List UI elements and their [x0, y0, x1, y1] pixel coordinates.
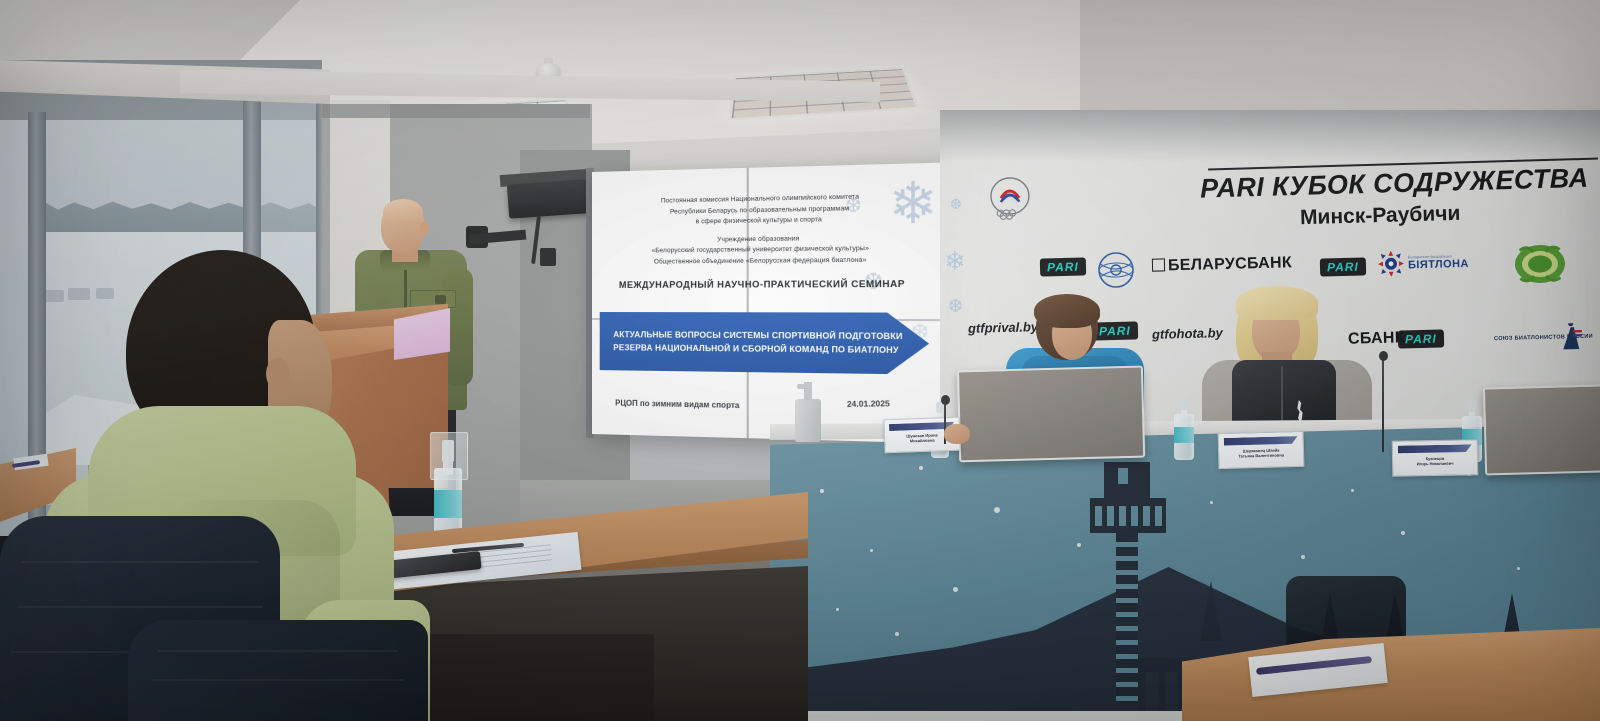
slide-date: 24.01.2025 [847, 399, 890, 409]
microphone [1378, 356, 1386, 452]
nameplate-center: Шеряковец Швейк Татьяна Валентиновна [1218, 431, 1305, 469]
laptop-right[interactable] [1483, 384, 1600, 471]
nameplate-bar [1398, 444, 1472, 453]
mural-star [1301, 555, 1305, 559]
snowflake-icon: ❄ [944, 246, 966, 277]
nameplate-line2: Игорь Николаевич [1400, 460, 1471, 466]
mural-star [953, 587, 958, 592]
belarusbank-logo: БЕЛАРУСБАНК [1152, 254, 1292, 275]
mural-star [870, 549, 873, 552]
backdrop-shadow [940, 110, 1600, 162]
belarusbank-mark-icon [1152, 258, 1165, 271]
russian-olympic-committee-logo [988, 175, 1031, 220]
panelist-blonde-hair-top [1236, 286, 1318, 320]
panelist-with-laptop-hair [1034, 294, 1100, 328]
green-emblem-logo [1511, 241, 1568, 286]
tower-railing [1090, 506, 1166, 528]
microphone-head-icon [941, 395, 950, 405]
puffer-jacket-sleeve [128, 620, 428, 721]
bottle-neck [443, 459, 453, 474]
tower-deck [1090, 498, 1166, 506]
mural-star [1401, 531, 1405, 535]
nameplate-text: Кузнецов Игорь Николаевич [1400, 455, 1471, 466]
sanitizer-nozzle [797, 384, 812, 389]
biathlon-federation-emblem-logo [1096, 250, 1137, 291]
russian-biathlon-union-logo: СОЮЗ БИАТЛОНИСТОВ РОССИИ [1494, 323, 1584, 353]
projection-screen: ❄ ❆ ❆ ❆ Постоянная комиссия Национальног… [592, 162, 956, 444]
bottle-cap [1468, 400, 1477, 412]
slide-title-text: АКТУАЛЬНЫЕ ВОПРОСЫ СИСТЕМЫ СПОРТИВНОЙ ПО… [600, 328, 903, 357]
quilt-seam [17, 606, 263, 608]
bottle-neck [1469, 411, 1476, 420]
mural-star [895, 632, 899, 636]
quilt-seam [152, 679, 404, 681]
belarusbank-logo-2: СБАНК [1348, 329, 1405, 348]
hand-sanitizer-bottle [795, 382, 821, 442]
pari-logo: PARI [1040, 257, 1086, 276]
mural-ski-tower [1070, 462, 1190, 712]
nameplate-line2: Татьяна Валентиновна [1226, 452, 1297, 459]
sanitizer-body [795, 399, 821, 442]
photo-scene: ❄ ❆ ❆ ❆ Постоянная комиссия Национальног… [0, 0, 1600, 721]
speaker-ear [420, 222, 429, 235]
microphone-head-icon [1379, 351, 1388, 361]
gtfohota-logo: gtfohota.by [1152, 325, 1223, 342]
jacket-pocket-flap [435, 295, 446, 304]
biathlete-silhouette-icon [1559, 323, 1584, 352]
pari-logo: PARI [1092, 321, 1138, 340]
biathlon-target-icon [1378, 250, 1405, 277]
quilt-seam [22, 561, 257, 563]
mural-tree [1200, 581, 1222, 641]
mural-star [1210, 501, 1213, 504]
nameplate-right: Кузнецов Игорь Николаевич [1392, 439, 1479, 476]
bottle-label [434, 490, 462, 518]
gtfprival-logo: gtfprival.by [968, 319, 1038, 336]
mural-star [1351, 489, 1354, 492]
chair-back [1286, 576, 1406, 646]
panelist-hand [944, 424, 970, 444]
belarus-biathlon-logo: Беларуская федэрацыя БІЯТЛОНА [1378, 249, 1469, 277]
tower-window [1118, 468, 1128, 484]
bottle-label [1174, 427, 1194, 443]
belarus-biathlon-label: БІЯТЛОНА [1408, 258, 1469, 271]
speaker-bald-top [383, 199, 423, 225]
nameplate-bar [1224, 436, 1298, 445]
mural-star [820, 489, 824, 493]
snowflake-icon: ❆ [950, 196, 962, 213]
foreground-attendee-ear [266, 358, 290, 390]
bottle-cap [1180, 398, 1189, 410]
slide-title-banner: АКТУАЛЬНЫЕ ВОПРОСЫ СИСТЕМЫ СПОРТИВНОЙ ПО… [600, 312, 929, 375]
nameplate-text: Шеряковец Швейк Татьяна Валентиновна [1226, 447, 1297, 459]
belarusbank-label: БЕЛАРУСБАНК [1168, 254, 1292, 274]
mural-star [836, 608, 839, 611]
microphone-stem [1382, 356, 1384, 452]
projector-bracket [540, 248, 556, 266]
laptop-left[interactable] [957, 366, 1141, 459]
bottle-neck [1181, 409, 1188, 418]
slide-footer: РЦОП по зимним видам спорта [615, 398, 739, 410]
snowflake-icon: ❆ [948, 296, 963, 317]
quilt-seam [158, 650, 398, 652]
sbr-label: СОЮЗ БИАТЛОНИСТОВ РОССИИ [1494, 334, 1556, 343]
slide-title-line2: РЕЗЕРВА НАЦИОНАЛЬНОЙ И СБОРНОЙ КОМАНД ПО… [613, 341, 902, 357]
water-bottle [1174, 398, 1194, 460]
laptop-lid [957, 366, 1145, 463]
bottle-cap [442, 440, 454, 462]
backdrop-subtitle: Минск-Раубичи [1300, 202, 1461, 230]
tower-deck-base [1090, 526, 1166, 533]
mural-star [994, 507, 1000, 513]
mural-star [919, 466, 923, 470]
tower-ladder [1116, 533, 1138, 703]
mural-star [1517, 567, 1520, 570]
slide-event-type: МЕЖДУНАРОДНЫЙ НАУЧНО-ПРАКТИЧЕСКИЙ СЕМИНА… [613, 278, 911, 289]
pari-logo: PARI [1320, 257, 1366, 276]
laptop-lid [1483, 384, 1600, 475]
wall-speaker [507, 179, 589, 218]
wall-strip [322, 104, 590, 118]
slide-org-line: Общественное объединение «Белорусская фе… [613, 255, 911, 268]
slide-header: Постоянная комиссия Национального олимпи… [613, 191, 911, 268]
